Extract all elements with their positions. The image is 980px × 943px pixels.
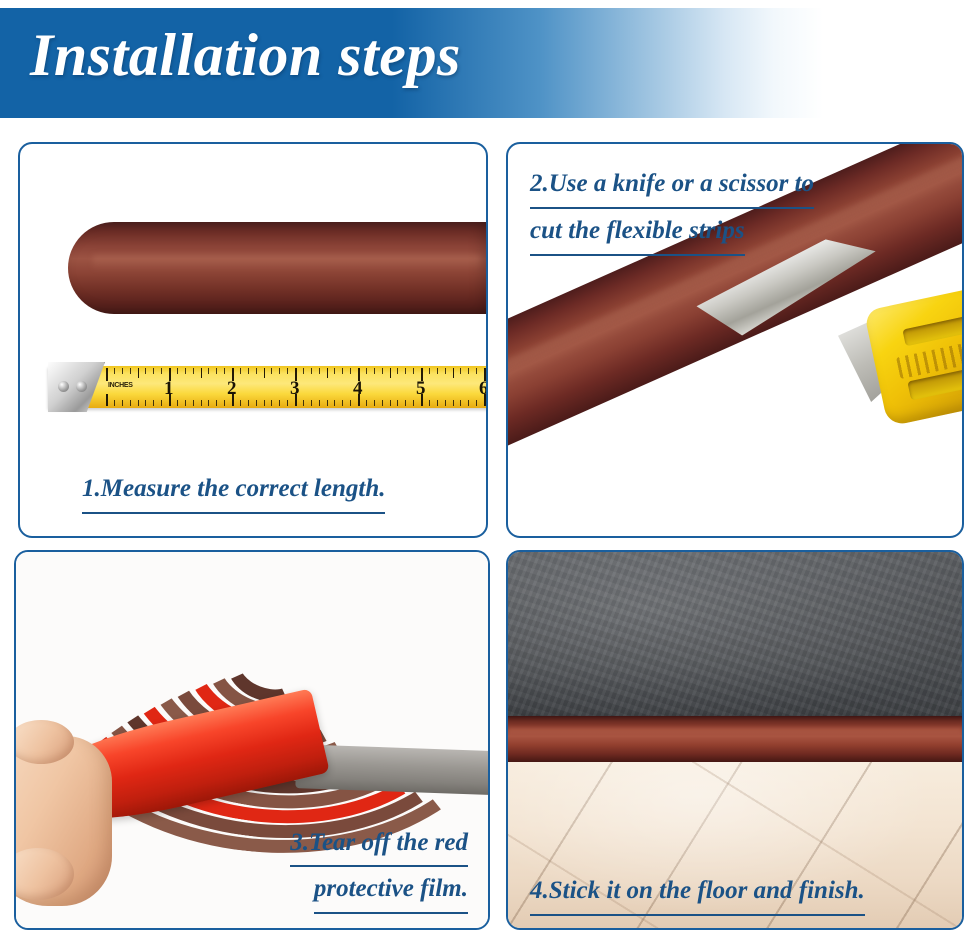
caption-line: protective film. — [314, 867, 468, 914]
tape-tick — [240, 400, 241, 406]
header-banner: Installation steps — [0, 8, 980, 118]
tape-tick — [405, 368, 406, 374]
knife-handle-graphic — [864, 284, 962, 426]
tape-tick — [279, 368, 280, 374]
tape-tick — [161, 368, 162, 374]
tape-tick — [256, 368, 257, 374]
tape-tick — [153, 400, 154, 406]
tape-tick — [122, 368, 123, 374]
molding-strip-graphic — [68, 222, 486, 314]
tape-tick — [460, 368, 461, 374]
tape-tick — [445, 368, 446, 374]
tape-tick — [145, 368, 146, 374]
tape-tick — [303, 368, 304, 374]
tape-tick — [248, 368, 249, 374]
tape-tick — [476, 368, 477, 374]
tape-tick — [342, 368, 343, 374]
tape-tick — [390, 368, 391, 378]
tape-tick — [453, 368, 454, 378]
tape-tick — [177, 368, 178, 374]
tape-tick — [468, 368, 469, 374]
tape-tick — [327, 368, 328, 378]
tape-tick — [193, 368, 194, 374]
tape-tick — [130, 400, 131, 406]
tape-tick — [216, 368, 217, 374]
tape-tick — [106, 394, 108, 406]
tape-tick — [405, 400, 406, 406]
tape-tick — [334, 368, 335, 374]
tape-tick — [161, 400, 162, 406]
tape-tick — [319, 368, 320, 374]
tape-tick — [240, 368, 241, 374]
tape-number-label: 3 — [290, 378, 300, 400]
installed-baseboard-graphic — [508, 716, 962, 762]
tape-tick — [445, 400, 446, 406]
tape-tick — [327, 400, 328, 406]
tape-tick — [208, 400, 209, 406]
tape-tick — [248, 400, 249, 406]
tape-rivet-icon — [76, 381, 87, 392]
step-panel-3: 3.Tear off the red protective film. — [14, 550, 490, 930]
tape-tick — [256, 400, 257, 406]
tape-tick — [122, 400, 123, 406]
tape-tick — [429, 368, 430, 374]
tape-tick — [216, 400, 217, 406]
tape-tick — [130, 368, 131, 374]
caption-line: 3.Tear off the red — [290, 821, 468, 868]
tape-tick — [271, 400, 272, 406]
step-1-caption: 1.Measure the correct length. — [82, 467, 385, 514]
tape-tick — [413, 400, 414, 406]
tape-tick — [366, 400, 367, 406]
caption-line: 2.Use a knife or a scissor to — [530, 162, 814, 209]
tape-tick — [382, 368, 383, 374]
tape-tick — [437, 400, 438, 406]
tape-tick — [350, 400, 351, 406]
tape-tick — [468, 400, 469, 406]
tape-tick — [319, 400, 320, 406]
tape-tick — [279, 400, 280, 406]
tape-tick-marks: 123456 — [106, 366, 486, 408]
tape-tick — [185, 400, 186, 406]
tape-tick — [138, 400, 139, 406]
steps-grid: INCHES 123456 1.Measure the correct leng… — [0, 132, 980, 937]
tape-tick — [476, 400, 477, 406]
tape-tick — [429, 400, 430, 406]
tape-measure-graphic: INCHES 123456 — [48, 366, 486, 408]
tape-tick — [397, 368, 398, 374]
tape-tick — [145, 400, 146, 406]
caption-line: 1.Measure the correct length. — [82, 467, 385, 514]
tape-tick — [114, 368, 115, 374]
tape-tick — [311, 368, 312, 374]
tape-tick — [453, 400, 454, 406]
tape-tick — [201, 368, 202, 378]
tape-number-label: 5 — [416, 378, 426, 400]
tape-tick — [114, 400, 115, 406]
tape-tick — [271, 368, 272, 374]
tape-number-label: 6 — [479, 378, 486, 400]
tape-tick — [224, 400, 225, 406]
tape-tick — [374, 368, 375, 374]
tape-tick — [350, 368, 351, 374]
step-panel-1: INCHES 123456 1.Measure the correct leng… — [18, 142, 488, 538]
tape-tick — [287, 368, 288, 374]
tape-tick — [185, 368, 186, 374]
tape-tick — [208, 368, 209, 374]
step-panel-2: 2.Use a knife or a scissor to cut the fl… — [506, 142, 964, 538]
tape-number-label: 4 — [353, 378, 363, 400]
step-4-caption: 4.Stick it on the floor and finish. — [530, 869, 865, 916]
tape-tick — [342, 400, 343, 406]
step-3-caption: 3.Tear off the red protective film. — [290, 821, 468, 915]
tape-tick — [153, 368, 154, 374]
tape-tick — [224, 368, 225, 374]
tape-tick — [374, 400, 375, 406]
tape-tick — [264, 400, 265, 406]
tape-number-label: 1 — [164, 378, 174, 400]
tape-tick — [460, 400, 461, 406]
tape-tick — [413, 368, 414, 374]
tape-tick — [311, 400, 312, 406]
tape-tick — [334, 400, 335, 406]
tape-tick — [201, 400, 202, 406]
tape-tick — [138, 368, 139, 378]
tape-tick — [382, 400, 383, 406]
tape-tick — [366, 368, 367, 374]
caption-line: 4.Stick it on the floor and finish. — [530, 869, 865, 916]
tape-tick — [437, 368, 438, 374]
tape-hook-icon — [48, 362, 105, 412]
tape-rivet-icon — [58, 381, 69, 392]
tape-tick — [397, 400, 398, 406]
tape-tick — [264, 368, 265, 378]
tape-tick — [303, 400, 304, 406]
caption-line: cut the flexible strips — [530, 209, 745, 256]
concrete-wall-graphic — [508, 552, 962, 716]
tape-tick — [177, 400, 178, 406]
tape-number-label: 2 — [227, 378, 237, 400]
tape-tick — [106, 368, 108, 381]
tape-tick — [390, 400, 391, 406]
handle-slot — [902, 313, 962, 346]
tape-tick — [287, 400, 288, 406]
page-title: Installation steps — [30, 22, 461, 88]
tape-tick — [193, 400, 194, 406]
step-2-caption: 2.Use a knife or a scissor to cut the fl… — [530, 162, 814, 256]
step-panel-4: 4.Stick it on the floor and finish. — [506, 550, 964, 930]
